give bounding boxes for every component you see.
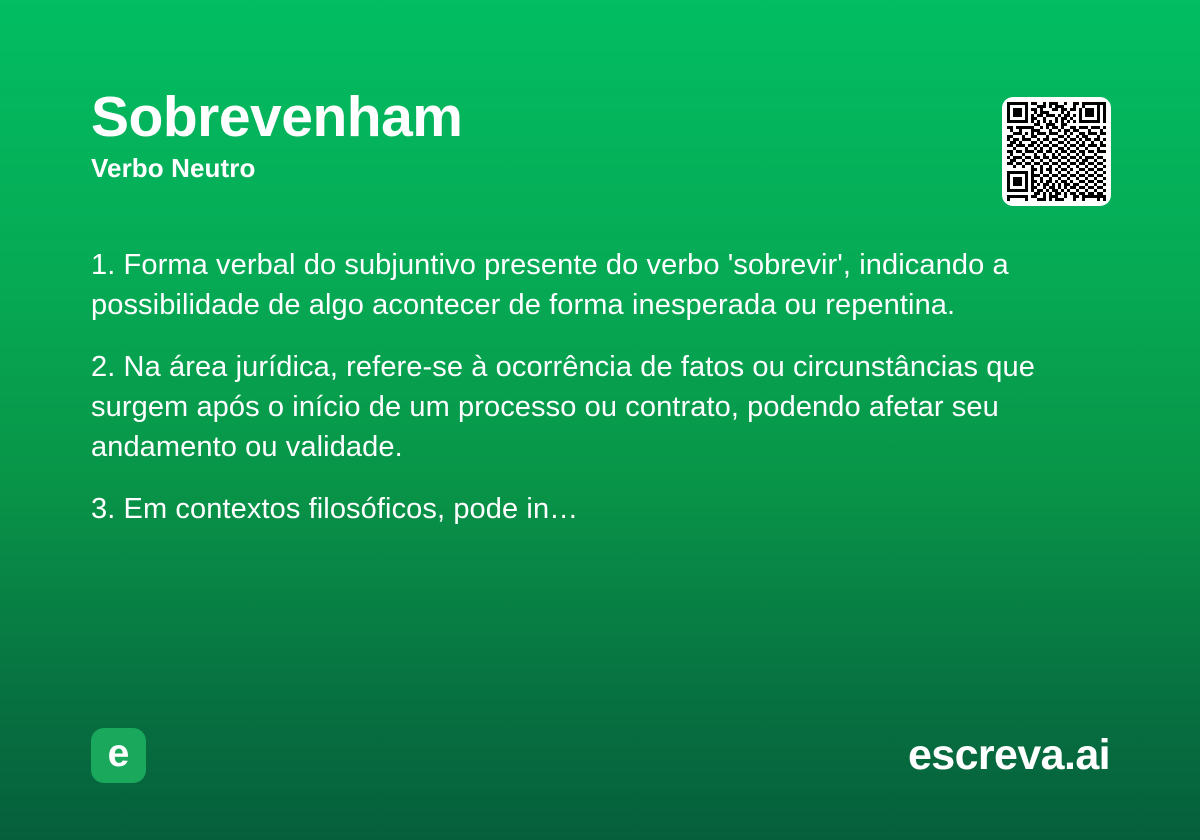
definition-item: 3. Em contextos filosóficos, pode in… (91, 489, 1111, 529)
definition-list: 1. Forma verbal do subjuntivo presente d… (91, 245, 1111, 529)
definition-item: 2. Na área jurídica, refere-se à ocorrên… (91, 347, 1111, 467)
card-header: Sobrevenham Verbo Neutro (91, 88, 1080, 184)
brand-logo[interactable]: e (91, 728, 146, 783)
word-class-label: Verbo Neutro (91, 153, 1080, 184)
card-footer: e escreva.ai (91, 728, 1110, 783)
definition-item: 1. Forma verbal do subjuntivo presente d… (91, 245, 1111, 325)
brand-logo-letter: e (108, 734, 130, 773)
qr-code-icon (1007, 102, 1106, 201)
page-title: Sobrevenham (91, 88, 1080, 147)
qr-code-panel[interactable] (1002, 97, 1111, 206)
brand-wordmark: escreva.ai (908, 734, 1110, 777)
word-definition-card: Sobrevenham Verbo Neutro 1. Forma verbal… (0, 0, 1200, 840)
